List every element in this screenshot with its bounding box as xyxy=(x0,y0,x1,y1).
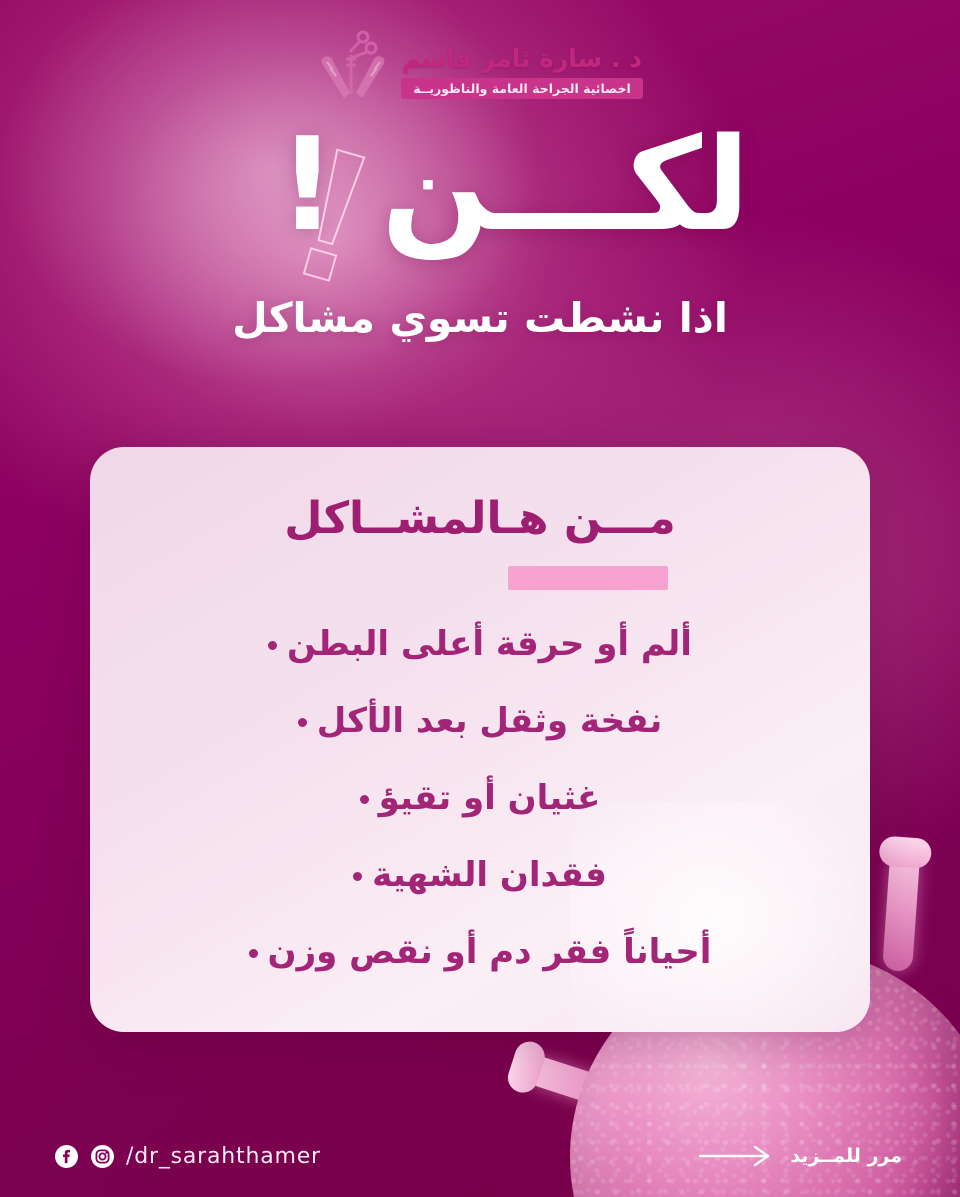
problems-card: مـــن هـالمشــاكل ألم أو حرقة أعلى البطن… xyxy=(90,447,870,1032)
list-item-label: أحياناً فقر دم أو نقص وزن xyxy=(268,932,712,972)
doctor-name: د . سارة ثامر قاسم xyxy=(401,44,643,73)
social-handles[interactable]: /dr_sarahthamer xyxy=(54,1144,321,1169)
instagram-icon[interactable] xyxy=(90,1144,115,1169)
swipe-hint[interactable]: مرر للمــزيد xyxy=(698,1145,902,1167)
list-item-label: فقدان الشهية xyxy=(372,855,607,895)
arrow-right-icon xyxy=(698,1145,776,1167)
logo-text-block: د . سارة ثامر قاسم اخصائية الجراحة العام… xyxy=(401,44,643,99)
hero-subtitle: اذا نشطت تسوي مشاكل xyxy=(0,294,960,342)
brand-logo: د . سارة ثامر قاسم اخصائية الجراحة العام… xyxy=(0,28,960,114)
surgical-instruments-icon xyxy=(317,28,391,114)
bullet-dot-icon xyxy=(298,718,307,727)
list-item-label: نفخة وثقل بعد الأكل xyxy=(317,701,663,741)
list-item: أحياناً فقر دم أو نقص وزن xyxy=(249,913,712,990)
list-item: نفخة وثقل بعد الأكل xyxy=(298,682,663,759)
list-item: فقدان الشهية xyxy=(353,836,607,913)
title-highlight-bar xyxy=(508,566,668,590)
list-item: غثيان أو تقيؤ xyxy=(360,759,601,836)
doctor-specialty: اخصائية الجراحة العامة والناظوريــة xyxy=(401,78,643,99)
poster-canvas: د . سارة ثامر قاسم اخصائية الجراحة العام… xyxy=(0,0,960,1197)
social-handle-text[interactable]: /dr_sarahthamer xyxy=(126,1144,321,1169)
facebook-icon[interactable] xyxy=(54,1144,79,1169)
list-item: ألم أو حرقة أعلى البطن xyxy=(268,605,692,682)
hero-section: لكـــن ! xyxy=(0,122,960,302)
bullet-dot-icon xyxy=(268,641,277,650)
symptom-list: ألم أو حرقة أعلى البطن نفخة وثقل بعد الأ… xyxy=(90,605,870,990)
bullet-dot-icon xyxy=(249,949,258,958)
bullet-dot-icon xyxy=(353,872,362,881)
list-item-label: ألم أو حرقة أعلى البطن xyxy=(287,624,692,664)
swipe-label: مرر للمــزيد xyxy=(790,1145,902,1167)
card-title-row: مـــن هـالمشــاكل xyxy=(90,493,870,544)
card-title: مـــن هـالمشــاكل xyxy=(284,493,676,544)
list-item-label: غثيان أو تقيؤ xyxy=(379,778,601,818)
bullet-dot-icon xyxy=(360,795,369,804)
